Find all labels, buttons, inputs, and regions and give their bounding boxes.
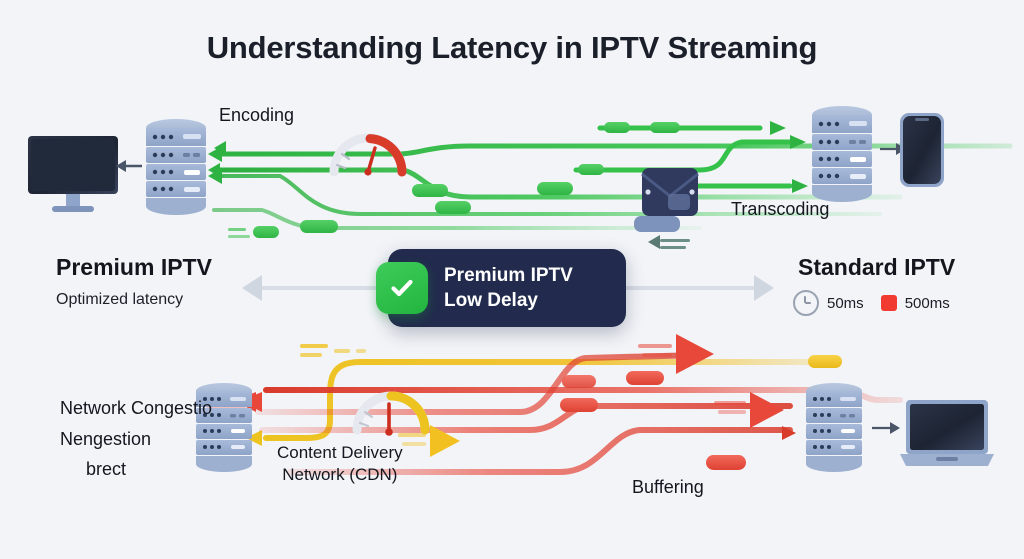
- red-square-icon: [881, 295, 897, 311]
- label-buffering: Buffering: [632, 477, 704, 498]
- badge-line-2: Low Delay: [444, 288, 573, 313]
- label-network-congestion-1: Network Congestio: [60, 398, 212, 419]
- page-title: Understanding Latency in IPTV Streaming: [0, 30, 1024, 66]
- label-transcoding: Transcoding: [731, 199, 829, 220]
- label-cdn-line2: Network (CDN): [277, 464, 403, 486]
- label-encoding: Encoding: [219, 105, 294, 126]
- smartphone-icon: [900, 113, 944, 187]
- label-network-congestion-3: brect: [86, 459, 126, 480]
- server-rack-icon-top-left: [146, 119, 206, 215]
- green-flow-group: [208, 121, 1010, 238]
- server-rack-icon-bottom-right: [806, 383, 862, 472]
- server-rack-icon-bottom-left: [196, 383, 252, 472]
- label-network-congestion-2: Nengestion: [60, 429, 151, 450]
- premium-iptv-subtitle: Optimized latency: [56, 291, 183, 309]
- badge-line-1: Premium IPTV: [444, 263, 573, 288]
- label-cdn: Content Delivery Network (CDN): [277, 442, 403, 486]
- standard-iptv-title: Standard IPTV: [798, 254, 955, 281]
- latency-legend: 50ms 500ms: [793, 290, 950, 316]
- badge-text: Premium IPTV Low Delay: [444, 263, 573, 313]
- envelope-router-icon: [634, 168, 698, 249]
- monitor-icon: [28, 136, 118, 212]
- premium-low-delay-badge: Premium IPTV Low Delay: [388, 249, 626, 327]
- legend-value-low: 50ms: [827, 295, 864, 312]
- premium-iptv-title: Premium IPTV: [56, 254, 212, 281]
- check-icon: [376, 262, 428, 314]
- laptop-icon: [900, 400, 994, 466]
- label-cdn-line1: Content Delivery: [277, 442, 403, 464]
- infographic-canvas: Understanding Latency in IPTV Streaming …: [0, 0, 1024, 559]
- server-rack-icon-top-right: [812, 106, 872, 202]
- clock-icon: [793, 290, 819, 316]
- legend-value-high: 500ms: [905, 295, 950, 312]
